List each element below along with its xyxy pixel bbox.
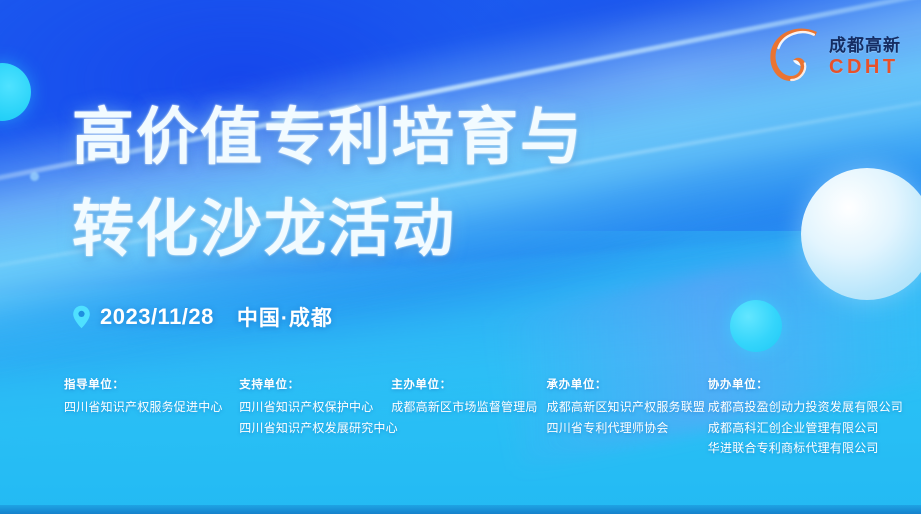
organizer-name: 成都高投盈创动力投资发展有限公司 xyxy=(708,397,903,418)
decorative-circle-medium xyxy=(730,300,782,352)
organizer-label: 指导单位： xyxy=(64,376,239,392)
cdht-logo: 成都高新 CDHT xyxy=(769,26,901,84)
organizer-list: 指导单位： 四川省知识产权服务促进中心 支持单位： 四川省知识产权保护中心 四川… xyxy=(0,376,921,459)
organizer-label: 主办单位： xyxy=(391,376,546,392)
organizer-column-host: 主办单位： 成都高新区市场监督管理局 xyxy=(391,376,546,459)
organizer-column-organizer: 承办单位： 成都高新区知识产权服务联盟 四川省专利代理师协会 xyxy=(547,376,708,459)
decorative-circle-large xyxy=(801,168,921,300)
organizer-column-support: 支持单位： 四川省知识产权保护中心 四川省知识产权发展研究中心 xyxy=(239,376,391,459)
organizer-name: 四川省专利代理师协会 xyxy=(547,418,708,439)
organizer-column-guidance: 指导单位： 四川省知识产权服务促进中心 xyxy=(64,376,239,459)
logo-wordmark: 成都高新 CDHT xyxy=(829,33,901,77)
organizer-name: 四川省知识产权服务促进中心 xyxy=(64,397,239,418)
decorative-circle-tiny xyxy=(30,172,39,181)
title-line-1: 高价值专利培育与 xyxy=(72,92,584,184)
organizer-column-co-organizer: 协办单位： 成都高投盈创动力投资发展有限公司 成都高科汇创企业管理有限公司 华进… xyxy=(708,376,903,459)
organizer-name: 成都高新区知识产权服务联盟 xyxy=(547,397,708,418)
organizer-name: 华进联合专利商标代理有限公司 xyxy=(708,438,903,459)
location-pin-icon xyxy=(72,305,91,329)
cdht-swoosh-icon xyxy=(769,26,823,84)
date-location-row: 2023/11/28 中国·成都 xyxy=(72,302,333,332)
organizer-label: 支持单位： xyxy=(239,376,391,392)
organizer-name: 成都高科汇创企业管理有限公司 xyxy=(708,418,903,439)
logo-chinese-name: 成都高新 xyxy=(829,37,901,54)
event-date: 2023/11/28 xyxy=(100,304,214,330)
banner-title: 高价值专利培育与 转化沙龙活动 xyxy=(72,92,584,276)
organizer-name: 成都高新区市场监督管理局 xyxy=(391,397,546,418)
title-line-2: 转化沙龙活动 xyxy=(72,184,584,276)
event-banner: 成都高新 CDHT 高价值专利培育与 转化沙龙活动 2023/11/28 中国·… xyxy=(0,0,921,514)
event-place: 中国·成都 xyxy=(237,302,333,332)
organizer-name: 四川省知识产权发展研究中心 xyxy=(239,418,391,439)
logo-english-name: CDHT xyxy=(829,57,901,77)
organizer-name: 四川省知识产权保护中心 xyxy=(239,397,391,418)
bottom-edge-strip xyxy=(0,505,921,514)
organizer-label: 承办单位： xyxy=(547,376,708,392)
organizer-label: 协办单位： xyxy=(708,376,903,392)
